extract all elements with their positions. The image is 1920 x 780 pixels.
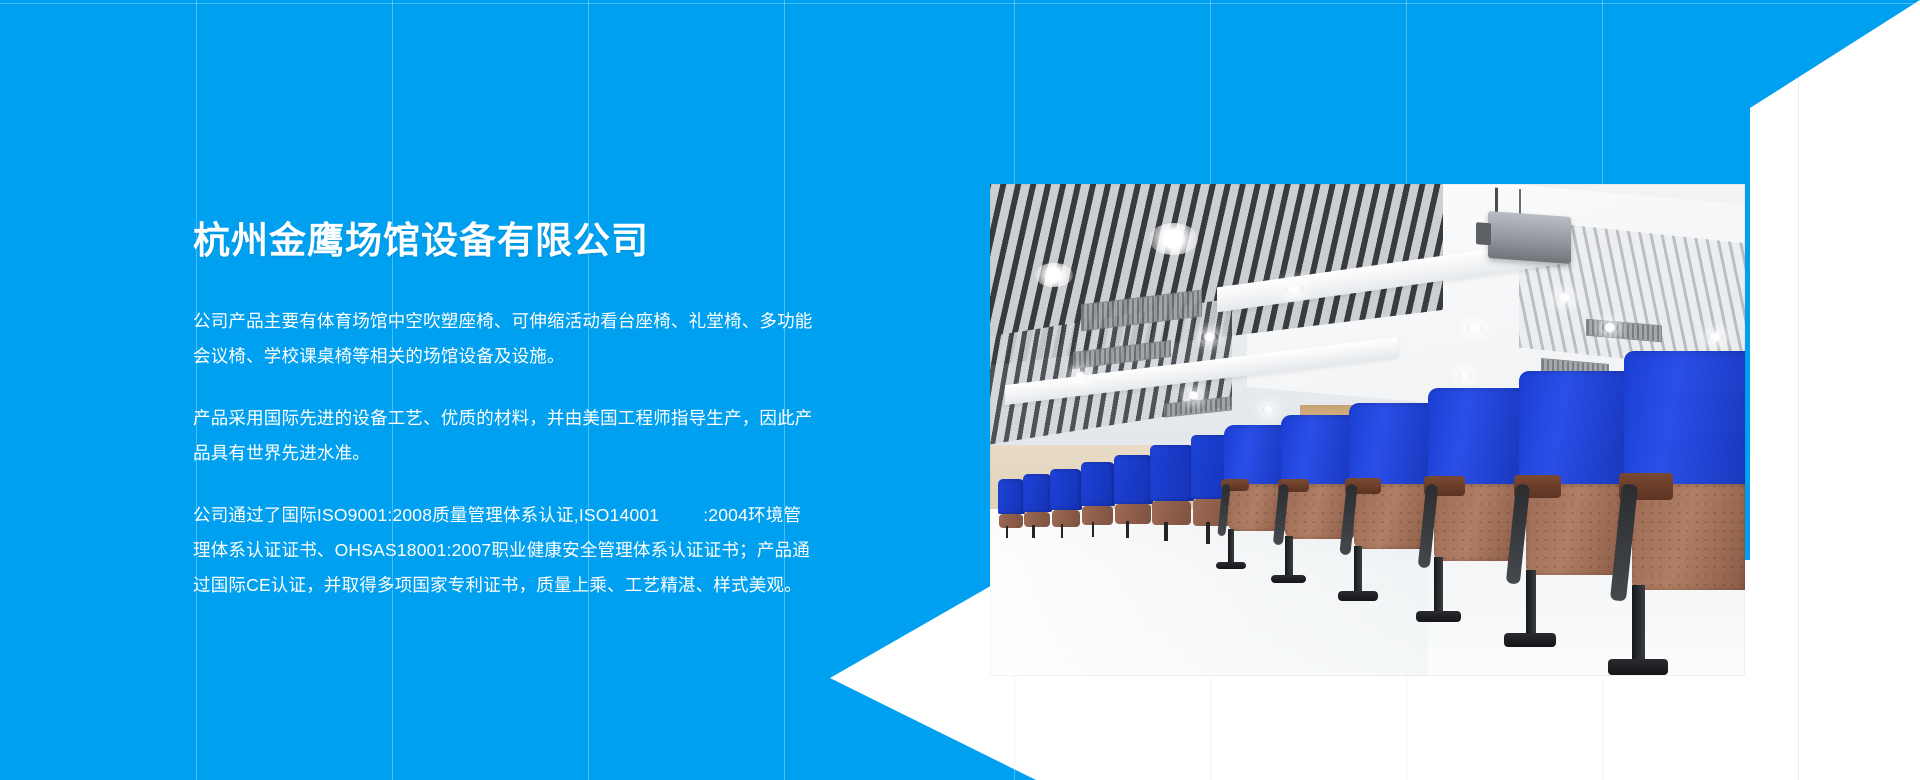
auditorium-seat-far — [1050, 469, 1082, 509]
auditorium-seat-far — [1023, 474, 1052, 511]
banner-stage: 杭州金鹰场馆设备有限公司 公司产品主要有体育场馆中空吹塑座椅、可伸缩活动看台座椅… — [0, 0, 1920, 780]
auditorium-seat-far — [1114, 455, 1153, 504]
certification-text-part-1: 公司通过了国际ISO9001:2008质量管理体系认证,ISO14001 — [193, 505, 659, 525]
auditorium-photo-canvas — [990, 184, 1745, 676]
recessed-downlight — [1556, 292, 1573, 303]
intro-paragraph-products: 公司产品主要有体育场馆中空吹塑座椅、可伸缩活动看台座椅、礼堂椅、多功能会议椅、学… — [193, 304, 813, 374]
ceiling-projector — [1488, 211, 1571, 264]
recessed-downlight — [1466, 322, 1484, 334]
page-title: 杭州金鹰场馆设备有限公司 — [193, 218, 813, 264]
auditorium-seat-far — [1150, 445, 1194, 502]
intro-paragraph-certifications: 公司通过了国际ISO9001:2008质量管理体系认证,ISO14001:200… — [193, 498, 813, 603]
intro-paragraph-technology: 产品采用国际先进的设备工艺、优质的材料，并由美国工程师指导生产，因此产品具有世界… — [193, 401, 813, 471]
auditorium-seat-far — [998, 479, 1025, 513]
grid-line-vertical — [1798, 0, 1799, 780]
auditorium-seat-far — [1081, 462, 1116, 506]
auditorium-seat — [1624, 351, 1745, 617]
recessed-downlight — [1186, 391, 1200, 400]
ceiling-spotlight — [1149, 223, 1198, 255]
recessed-downlight — [1073, 371, 1088, 381]
ceiling-spotlight — [1035, 263, 1073, 288]
auditorium-photo — [990, 184, 1745, 676]
recessed-downlight — [1602, 322, 1619, 333]
company-intro-block: 杭州金鹰场馆设备有限公司 公司产品主要有体育场馆中空吹塑座椅、可伸缩活动看台座椅… — [193, 218, 813, 603]
